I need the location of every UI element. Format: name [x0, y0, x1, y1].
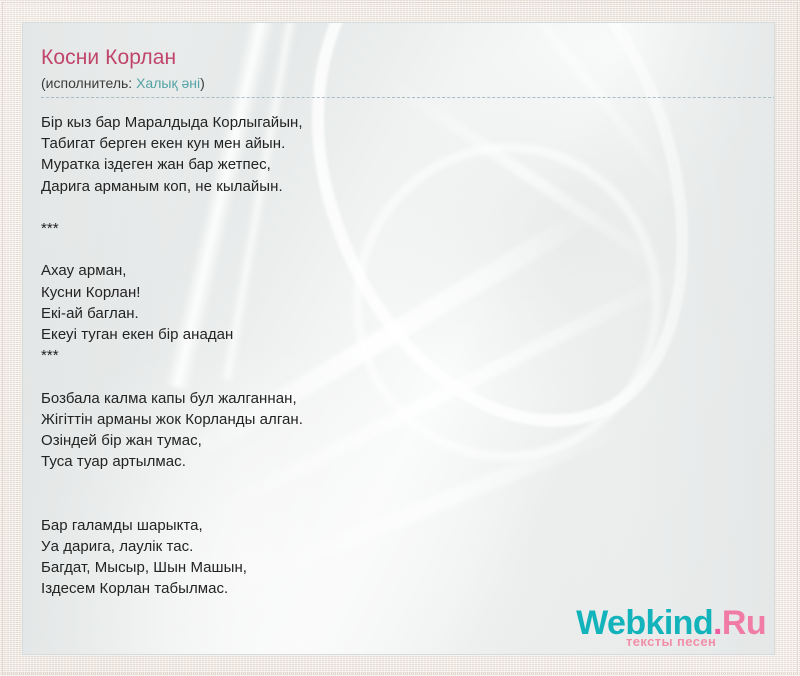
- lyrics-text: Бір кыз бар Маралдыда Корлыгайын, Табига…: [41, 112, 774, 600]
- artist-link[interactable]: Халық әні: [136, 75, 200, 91]
- header-separator: [41, 97, 775, 98]
- card-content: Косни Корлан (исполнитель: Халық әні) Бі…: [23, 23, 774, 654]
- artist-suffix-label: ): [200, 75, 205, 91]
- artist-line: (исполнитель: Халық әні): [41, 74, 774, 92]
- site-logo-tld: Ru: [722, 604, 766, 642]
- artist-prefix-label: (исполнитель:: [41, 75, 136, 91]
- lyrics-card: Косни Корлан (исполнитель: Халық әні) Бі…: [22, 22, 775, 655]
- page-title: Косни Корлан: [41, 46, 774, 70]
- site-logo[interactable]: Webkind.Ru тексты песен: [576, 606, 766, 648]
